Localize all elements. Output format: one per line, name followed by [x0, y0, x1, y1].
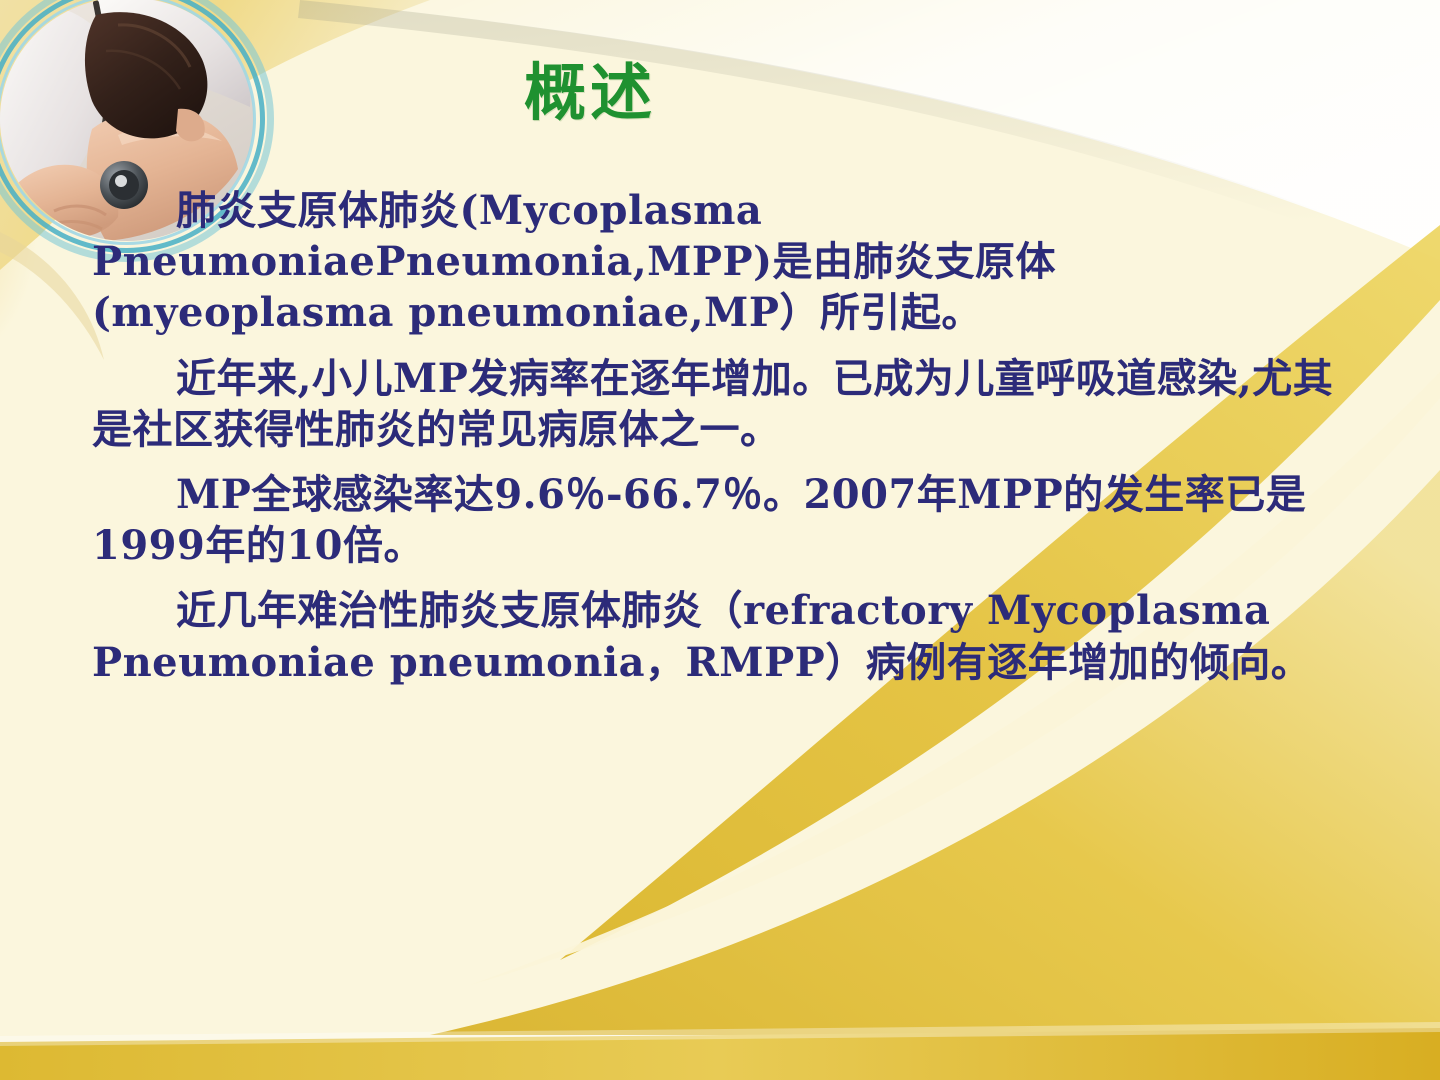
presentation-slide: 概述 肺炎支原体肺炎(Mycoplasma PneumoniaePneumoni… — [0, 0, 1440, 1080]
slide-body: 肺炎支原体肺炎(Mycoplasma PneumoniaePneumonia,M… — [92, 185, 1347, 688]
body-paragraph: 近年来,小儿MP发病率在逐年增加。已成为儿童呼吸道感染,尤其是社区获得性肺炎的常… — [92, 353, 1347, 455]
slide-title: 概述 — [0, 60, 1180, 125]
body-paragraph: 肺炎支原体肺炎(Mycoplasma PneumoniaePneumonia,M… — [92, 185, 1347, 339]
body-paragraph: 近几年难治性肺炎支原体肺炎（refractory Mycoplasma Pneu… — [92, 585, 1347, 687]
body-paragraph: MP全球感染率达9.6％-66.7％。2007年MPP的发生率已是1999年的1… — [92, 469, 1347, 571]
